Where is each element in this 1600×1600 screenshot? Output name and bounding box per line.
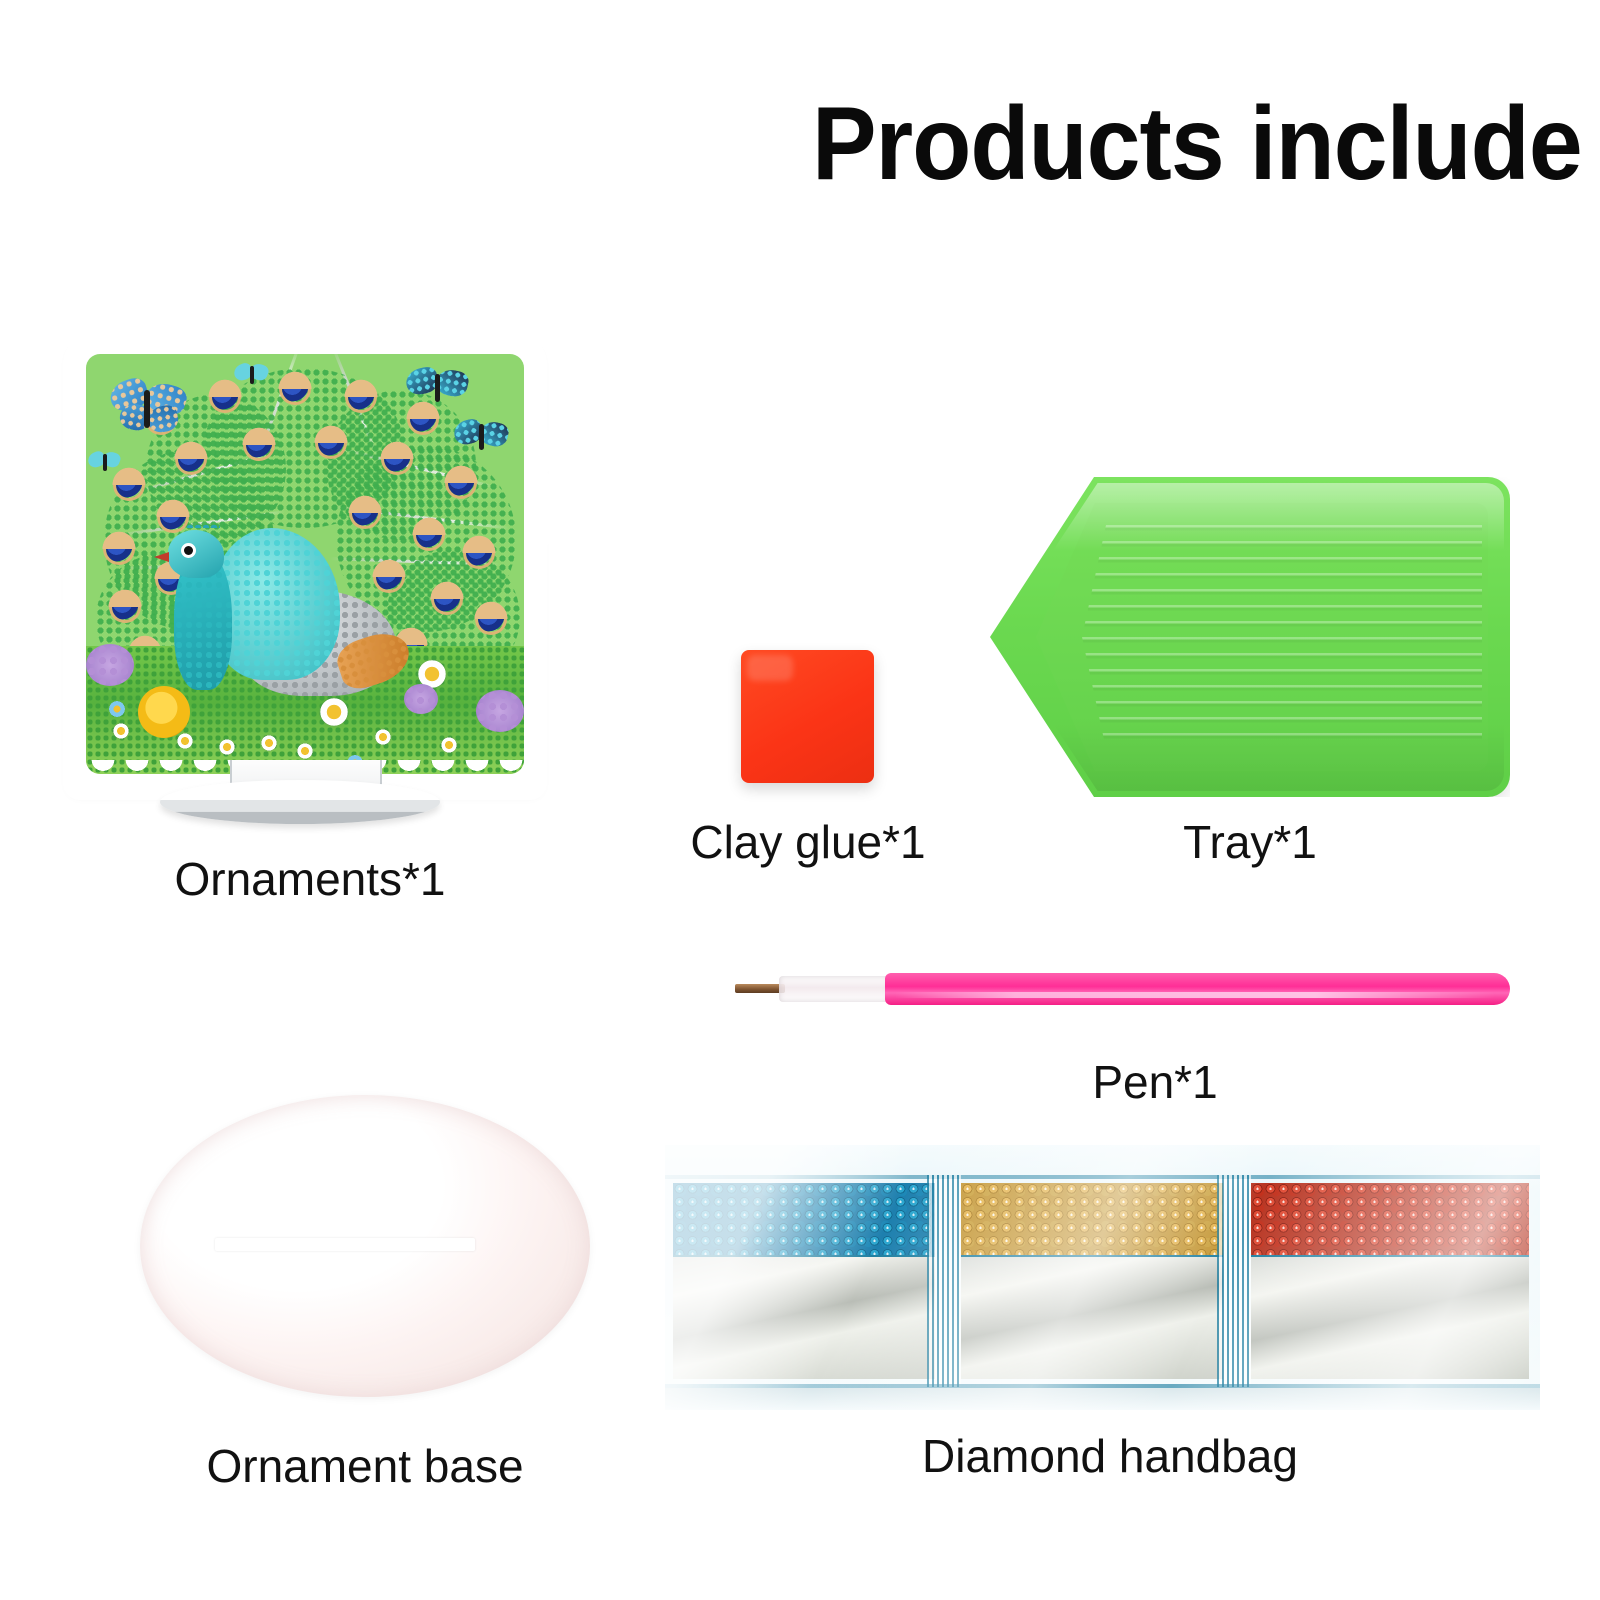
ornament-base-slot — [215, 1238, 475, 1251]
clay-glue-caption: Clay glue*1 — [628, 818, 988, 866]
tray-lip-shading — [996, 483, 1504, 791]
tray-caption: Tray*1 — [1070, 818, 1430, 866]
feather-eye — [448, 470, 474, 496]
feather-eye — [160, 504, 186, 530]
feather-eye — [466, 540, 492, 566]
daisy-flower — [216, 736, 238, 758]
feather-eye — [112, 594, 138, 620]
feather-eye — [376, 564, 402, 590]
feather-eye — [106, 536, 132, 562]
feather-eye — [434, 586, 460, 612]
pen-caption: Pen*1 — [965, 1058, 1345, 1106]
pen-image — [735, 968, 1510, 1008]
ornaments-caption: Ornaments*1 — [90, 855, 530, 903]
feather-eye — [416, 522, 442, 548]
pouch-foil-backing — [961, 1255, 1223, 1379]
butterfly-body — [250, 366, 254, 384]
feather-eye — [348, 384, 374, 410]
butterfly-right-upper — [406, 368, 470, 412]
ornament-base-caption: Ornament base — [125, 1442, 605, 1490]
pen-metal-tip — [735, 984, 785, 993]
pouch-stone-window — [673, 1183, 935, 1255]
hydrangea-flower — [404, 684, 438, 714]
butterfly-body — [103, 454, 107, 471]
hydrangea-flower — [86, 644, 134, 686]
pouch-zip-seam — [1217, 1175, 1251, 1387]
rhinestones-blue — [673, 1183, 935, 1255]
daisy-flower — [314, 692, 354, 732]
tray-image — [990, 477, 1510, 797]
daisy-flower — [294, 740, 316, 762]
butterfly-right-lower — [454, 420, 510, 460]
pouch-stone-window — [961, 1183, 1223, 1255]
peacock-crest — [186, 514, 220, 528]
pouch-foil-backing — [673, 1255, 935, 1379]
diamond-handbag-caption: Diamond handbag — [860, 1432, 1360, 1480]
pouch-zip-seam — [927, 1175, 961, 1387]
butterfly-body — [479, 424, 484, 450]
feather-eye — [384, 446, 410, 472]
rhinestone-pouch-blue — [673, 1183, 935, 1379]
diamond-handbag-image — [665, 1145, 1540, 1410]
peacock-beak — [154, 552, 169, 562]
peacock-artwork — [86, 354, 524, 774]
hydrangea-flower — [476, 690, 524, 732]
daisy-flower — [174, 730, 196, 752]
rhinestones-red — [1251, 1183, 1529, 1255]
pouch-foil-backing — [1251, 1255, 1529, 1379]
feather-eye — [352, 500, 378, 526]
feather-eye — [178, 446, 204, 472]
forget-me-not-flower — [106, 698, 128, 720]
rhinestone-pouch-gold — [961, 1183, 1223, 1379]
feather-eye — [478, 606, 504, 632]
feather-eye — [318, 430, 344, 456]
daisy-flower — [372, 726, 394, 748]
pen-highlight — [895, 992, 1495, 998]
rhinestones-gold — [961, 1183, 1223, 1255]
bag-top-edge — [665, 1175, 1540, 1179]
butterfly-small-top — [234, 362, 270, 388]
rhinestone-pouch-red — [1251, 1183, 1529, 1379]
pen-clear-section — [779, 976, 889, 1002]
butterfly-large — [110, 380, 188, 436]
butterfly-left-lower — [88, 450, 122, 476]
butterfly-body — [435, 374, 440, 402]
ornament-stand-base — [160, 780, 440, 824]
pouch-stone-window — [1251, 1183, 1529, 1255]
daisy-flower — [110, 720, 132, 742]
page-title: Products include — [812, 92, 1582, 196]
daisy-flower — [438, 734, 460, 756]
butterfly-body — [144, 390, 150, 428]
ornament-product-image — [60, 330, 560, 830]
peacock-head — [168, 530, 224, 578]
product-contents-infographic: Products include — [0, 0, 1600, 1600]
feather-eye — [246, 432, 272, 458]
daisy-flower — [258, 732, 280, 754]
bag-bottom-strip — [665, 1388, 1540, 1410]
feather-eye — [282, 376, 308, 402]
peacock-eye — [184, 546, 193, 555]
clay-glue-image — [741, 650, 874, 783]
pen-barrel — [885, 973, 1510, 1005]
